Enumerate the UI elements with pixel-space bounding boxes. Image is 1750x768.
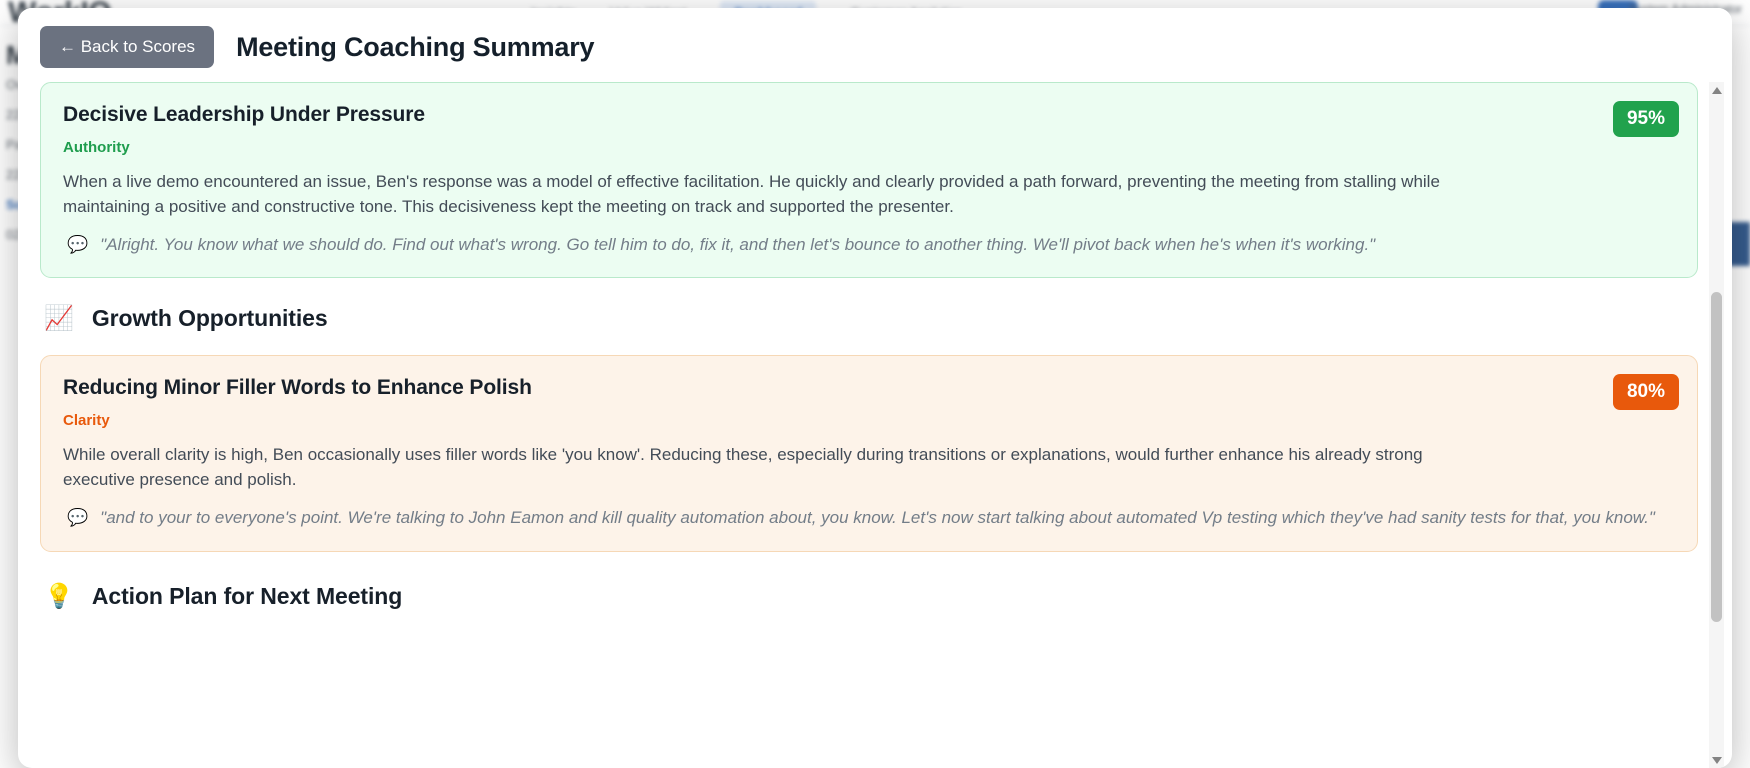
card-title: Decisive Leadership Under Pressure bbox=[63, 103, 1535, 127]
speech-balloon-icon: 💬 bbox=[67, 505, 88, 531]
card-quote-row: 💬 "and to your to everyone's point. We'r… bbox=[63, 505, 1675, 531]
triangle-up-icon bbox=[1712, 87, 1722, 94]
coaching-card-growth[interactable]: 80% Reducing Minor Filler Words to Enhan… bbox=[40, 355, 1698, 551]
section-heading-action-plan: 💡 Action Plan for Next Meeting bbox=[44, 582, 1698, 611]
card-quote: "Alright. You know what we should do. Fi… bbox=[100, 232, 1375, 258]
modal-header: ← Back to Scores Meeting Coaching Summar… bbox=[18, 8, 1732, 82]
chart-increasing-icon: 📈 bbox=[44, 304, 74, 333]
section-label: Growth Opportunities bbox=[92, 305, 328, 332]
light-bulb-icon: 💡 bbox=[44, 582, 74, 611]
card-quote-row: 💬 "Alright. You know what we should do. … bbox=[63, 232, 1675, 258]
card-category: Clarity bbox=[63, 412, 1675, 429]
card-title: Reducing Minor Filler Words to Enhance P… bbox=[63, 376, 1535, 400]
section-heading-growth-opportunities: 📈 Growth Opportunities bbox=[44, 304, 1698, 333]
coaching-card-strength[interactable]: 95% Decisive Leadership Under Pressure A… bbox=[40, 82, 1698, 278]
status-badge: 80% bbox=[1613, 374, 1679, 410]
speech-balloon-icon: 💬 bbox=[67, 232, 88, 258]
status-badge: 95% bbox=[1613, 101, 1679, 137]
scrollbar-thumb[interactable] bbox=[1711, 292, 1722, 622]
card-description: While overall clarity is high, Ben occas… bbox=[63, 443, 1495, 493]
card-quote: "and to your to everyone's point. We're … bbox=[100, 505, 1655, 531]
scroll-area: 95% Decisive Leadership Under Pressure A… bbox=[40, 82, 1698, 768]
section-label: Action Plan for Next Meeting bbox=[92, 583, 402, 610]
scroll-up-arrow[interactable] bbox=[1709, 82, 1724, 98]
modal-body: 95% Decisive Leadership Under Pressure A… bbox=[18, 82, 1732, 768]
scroll-down-arrow[interactable] bbox=[1709, 752, 1724, 768]
card-category: Authority bbox=[63, 139, 1675, 156]
back-to-scores-button[interactable]: ← Back to Scores bbox=[40, 26, 214, 68]
coaching-summary-modal: ← Back to Scores Meeting Coaching Summar… bbox=[18, 8, 1732, 768]
page-title: Meeting Coaching Summary bbox=[236, 32, 594, 63]
card-description: When a live demo encountered an issue, B… bbox=[63, 170, 1495, 220]
scrollbar[interactable] bbox=[1709, 82, 1724, 768]
triangle-down-icon bbox=[1712, 757, 1722, 764]
